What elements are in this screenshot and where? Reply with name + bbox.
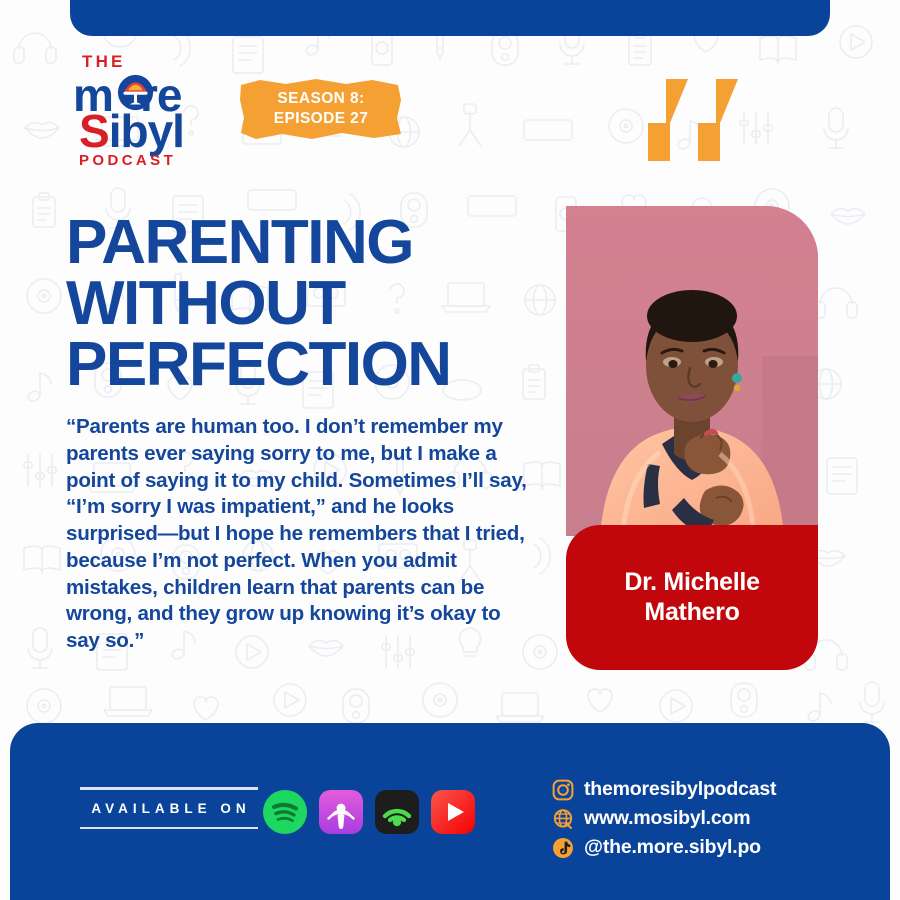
- guest-photo: [566, 206, 818, 536]
- social-links: themoresibylpodcast www.mosibyl.com @the…: [552, 776, 776, 863]
- season-line: SEASON 8:: [277, 89, 364, 109]
- logo-sibyl-text: Sibyl: [79, 104, 184, 158]
- platform-icons: [263, 790, 475, 834]
- guest-name: Dr. Michelle Mathero: [624, 568, 759, 627]
- episode-line: EPISODE 27: [274, 109, 368, 129]
- apple-podcasts-icon[interactable]: [319, 790, 363, 834]
- website-handle: www.mosibyl.com: [584, 807, 750, 830]
- guest-name-line-2: Mathero: [644, 598, 739, 626]
- social-row-website[interactable]: www.mosibyl.com: [552, 805, 776, 832]
- quotation-mark-icon: [648, 73, 740, 161]
- available-rule-top: [80, 787, 258, 790]
- episode-title: PARENTING WITHOUT PERFECTION: [66, 213, 546, 395]
- instagram-icon: [552, 779, 574, 801]
- available-on-label: AVAILABLE ON: [80, 790, 258, 827]
- social-row-tiktok[interactable]: @the.more.sibyl.po: [552, 834, 776, 861]
- social-row-instagram[interactable]: themoresibylpodcast: [552, 776, 776, 803]
- title-line-1: PARENTING: [66, 213, 546, 274]
- podcast-logo: THE more Sibyl PODCAST: [73, 52, 213, 172]
- podcast-episode-poster: ON AIR: [0, 0, 900, 900]
- episode-quote: “Parents are human too. I don’t remember…: [66, 414, 534, 655]
- logo-sibyl-rest: ibyl: [109, 105, 184, 157]
- castbox-icon[interactable]: [375, 790, 419, 834]
- available-on-block: AVAILABLE ON: [80, 787, 258, 829]
- tiktok-icon: [552, 837, 574, 859]
- season-episode-badge: SEASON 8: EPISODE 27: [238, 78, 404, 140]
- available-rule-bottom: [80, 827, 258, 830]
- spotify-icon[interactable]: [263, 790, 307, 834]
- instagram-handle: themoresibylpodcast: [584, 778, 776, 801]
- logo-sibyl-s: S: [79, 105, 109, 157]
- guest-name-plate: Dr. Michelle Mathero: [566, 525, 818, 670]
- globe-icon: [552, 808, 574, 830]
- tiktok-handle: @the.more.sibyl.po: [584, 836, 761, 859]
- youtube-icon[interactable]: [431, 790, 475, 834]
- top-accent-bar: [70, 0, 830, 36]
- guest-name-line-1: Dr. Michelle: [624, 568, 759, 596]
- title-line-3: PERFECTION: [66, 335, 546, 396]
- logo-podcast-text: PODCAST: [79, 152, 176, 169]
- season-badge-text: SEASON 8: EPISODE 27: [238, 78, 404, 140]
- title-line-2: WITHOUT: [66, 274, 546, 335]
